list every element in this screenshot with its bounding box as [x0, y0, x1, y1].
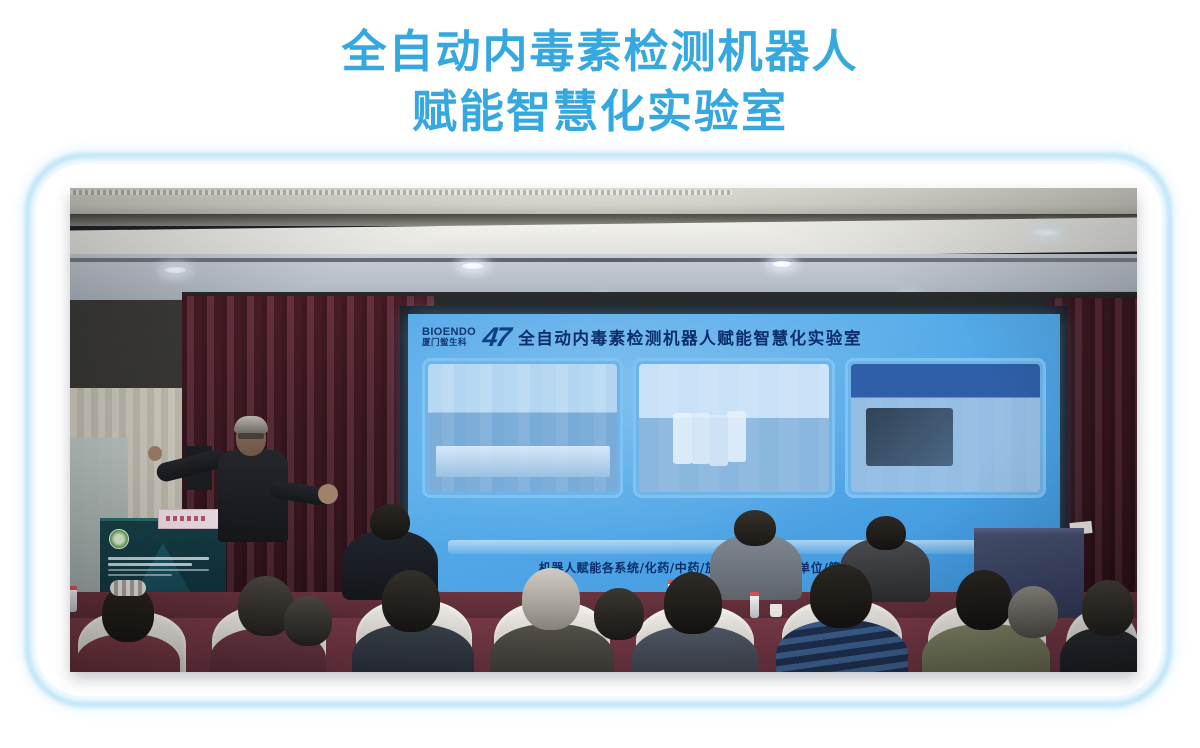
page-title: 全自动内毒素检测机器人 赋能智慧化实验室 — [0, 0, 1200, 142]
podium-text-line-1 — [108, 557, 209, 560]
ceiling-band-top — [70, 188, 1137, 216]
audience-head-6 — [810, 564, 872, 628]
audience-head-back-3 — [866, 516, 906, 550]
page-title-line-1: 全自动内毒素检测机器人 — [0, 22, 1200, 82]
audience-head-7 — [956, 570, 1012, 630]
lab-photo-automation — [428, 364, 617, 492]
speaker-hand-left — [148, 446, 162, 461]
podium-nameplate — [158, 509, 220, 529]
lab-photo-safety-cabinet — [851, 364, 1040, 492]
podium-emblem-icon — [109, 529, 129, 549]
slide-headline: 全自动内毒素检测机器人赋能智慧化实验室 — [518, 325, 862, 349]
conference-photo: BIOENDO 厦门鲎生科 47 全自动内毒素检测机器人赋能智慧化实验室 机器人… — [70, 188, 1137, 672]
podium-text-line-3 — [108, 569, 209, 571]
audience-head-back-1 — [370, 504, 410, 540]
audience-head-3 — [382, 570, 440, 632]
water-bottle-3 — [70, 586, 77, 612]
lab-photo-cleanroom — [639, 364, 828, 492]
logo-mark-47: 47 — [481, 322, 511, 353]
ceiling-light-7 — [1032, 228, 1062, 237]
audience-head-10 — [594, 588, 644, 640]
slide-panel-3 — [845, 358, 1046, 498]
audience-head-4 — [522, 568, 580, 630]
slide-panel-2 — [633, 358, 834, 498]
speaker-hair — [234, 416, 268, 433]
audience-head-11 — [1008, 586, 1058, 638]
logo-text-cn: 厦门鲎生科 — [422, 339, 476, 348]
speaker-glasses — [238, 433, 264, 439]
audience-head-back-2 — [734, 510, 776, 546]
bioendo-logo: BIOENDO 厦门鲎生科 — [422, 327, 476, 348]
audience-head-8 — [1082, 580, 1134, 636]
slide-image-panels — [422, 358, 1046, 498]
podium-banner-text — [108, 557, 218, 576]
ceiling-light-3 — [770, 260, 794, 268]
slide-header: BIOENDO 厦门鲎生科 47 全自动内毒素检测机器人赋能智慧化实验室 — [422, 323, 1050, 351]
podium-text-line-4 — [108, 574, 172, 576]
ceiling-soffit-rail — [70, 258, 1137, 262]
logo-text-en: BIOENDO — [422, 327, 476, 338]
podium-text-line-2 — [108, 563, 192, 566]
photo-frame: BIOENDO 厦门鲎生科 47 全自动内毒素检测机器人赋能智慧化实验室 机器人… — [26, 154, 1171, 706]
audience-head-9 — [284, 596, 332, 646]
paper-cup-2 — [770, 604, 782, 617]
ceiling-light-2 — [460, 262, 486, 270]
slide-panel-1 — [422, 358, 623, 498]
audience-head-5 — [664, 572, 722, 634]
water-bottle-2 — [750, 592, 759, 618]
ceiling-light-1 — [162, 266, 188, 274]
page-title-line-2: 赋能智慧化实验室 — [0, 82, 1200, 142]
speaker-hand-right — [318, 484, 338, 504]
table-paper — [1069, 521, 1092, 535]
audience-hair-clip-icon — [110, 580, 146, 596]
